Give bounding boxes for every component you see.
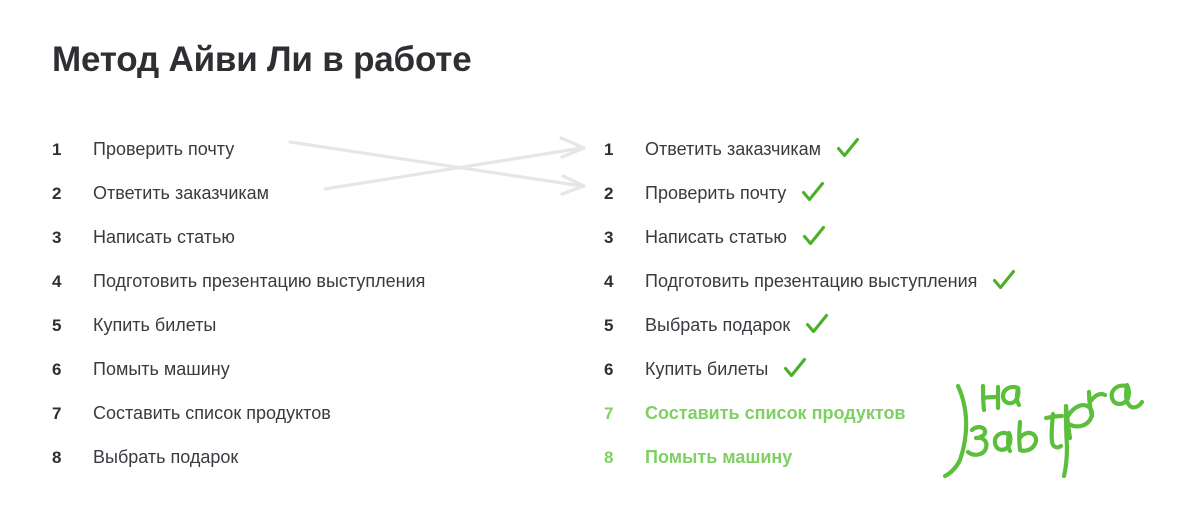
task-label: Выбрать подарок bbox=[93, 448, 238, 466]
check-icon[interactable] bbox=[804, 312, 830, 338]
task-number: 4 bbox=[52, 273, 93, 290]
task-row[interactable]: 7Составить список продуктов bbox=[604, 391, 1017, 435]
page-title: Метод Айви Ли в работе bbox=[52, 40, 471, 80]
task-label: Подготовить презентацию выступления bbox=[645, 272, 977, 290]
task-row[interactable]: 6Купить билеты bbox=[604, 347, 1017, 391]
task-list-prioritised: 1Ответить заказчикам2Проверить почту3Нап… bbox=[604, 127, 1017, 479]
task-label: Проверить почту bbox=[645, 184, 786, 202]
task-number: 5 bbox=[604, 317, 645, 334]
task-number: 2 bbox=[52, 185, 93, 202]
task-row[interactable]: 5Выбрать подарок bbox=[604, 303, 1017, 347]
task-row[interactable]: 7Составить список продуктов bbox=[52, 391, 425, 435]
task-label: Составить список продуктов bbox=[93, 404, 331, 422]
task-number: 3 bbox=[604, 229, 645, 246]
task-list-unsorted: 1Проверить почту2Ответить заказчикам3Нап… bbox=[52, 127, 425, 479]
task-row[interactable]: 3Написать статью bbox=[604, 215, 1017, 259]
task-number: 1 bbox=[604, 141, 645, 158]
task-row[interactable]: 4Подготовить презентацию выступления bbox=[52, 259, 425, 303]
task-label: Написать статью bbox=[93, 228, 235, 246]
check-icon[interactable] bbox=[782, 356, 808, 382]
slide-canvas: Метод Айви Ли в работе 1Проверить почту2… bbox=[0, 0, 1200, 527]
task-label: Составить список продуктов bbox=[645, 404, 906, 422]
check-icon[interactable] bbox=[991, 268, 1017, 294]
task-label: Проверить почту bbox=[93, 140, 234, 158]
task-row[interactable]: 1Ответить заказчикам bbox=[604, 127, 1017, 171]
task-row[interactable]: 5Купить билеты bbox=[52, 303, 425, 347]
task-label: Ответить заказчикам bbox=[645, 140, 821, 158]
task-number: 6 bbox=[604, 361, 645, 378]
task-number: 7 bbox=[604, 405, 645, 422]
task-label: Написать статью bbox=[645, 228, 787, 246]
task-number: 3 bbox=[52, 229, 93, 246]
task-label: Купить билеты bbox=[93, 316, 216, 334]
task-row[interactable]: 2Проверить почту bbox=[604, 171, 1017, 215]
check-icon[interactable] bbox=[801, 224, 827, 250]
task-row[interactable]: 1Проверить почту bbox=[52, 127, 425, 171]
task-row[interactable]: 3Написать статью bbox=[52, 215, 425, 259]
task-label: Подготовить презентацию выступления bbox=[93, 272, 425, 290]
check-icon[interactable] bbox=[800, 180, 826, 206]
task-number: 4 bbox=[604, 273, 645, 290]
task-number: 1 bbox=[52, 141, 93, 158]
task-number: 7 bbox=[52, 405, 93, 422]
task-number: 8 bbox=[604, 449, 645, 466]
task-number: 2 bbox=[604, 185, 645, 202]
check-icon[interactable] bbox=[835, 136, 861, 162]
task-label: Помыть машину bbox=[93, 360, 230, 378]
task-label: Купить билеты bbox=[645, 360, 768, 378]
task-row[interactable]: 6Помыть машину bbox=[52, 347, 425, 391]
task-label: Ответить заказчикам bbox=[93, 184, 269, 202]
task-row[interactable]: 2Ответить заказчикам bbox=[52, 171, 425, 215]
task-label: Выбрать подарок bbox=[645, 316, 790, 334]
task-number: 5 bbox=[52, 317, 93, 334]
task-number: 8 bbox=[52, 449, 93, 466]
task-label: Помыть машину bbox=[645, 448, 792, 466]
task-row[interactable]: 8Помыть машину bbox=[604, 435, 1017, 479]
task-number: 6 bbox=[52, 361, 93, 378]
task-row[interactable]: 8Выбрать подарок bbox=[52, 435, 425, 479]
task-row[interactable]: 4Подготовить презентацию выступления bbox=[604, 259, 1017, 303]
